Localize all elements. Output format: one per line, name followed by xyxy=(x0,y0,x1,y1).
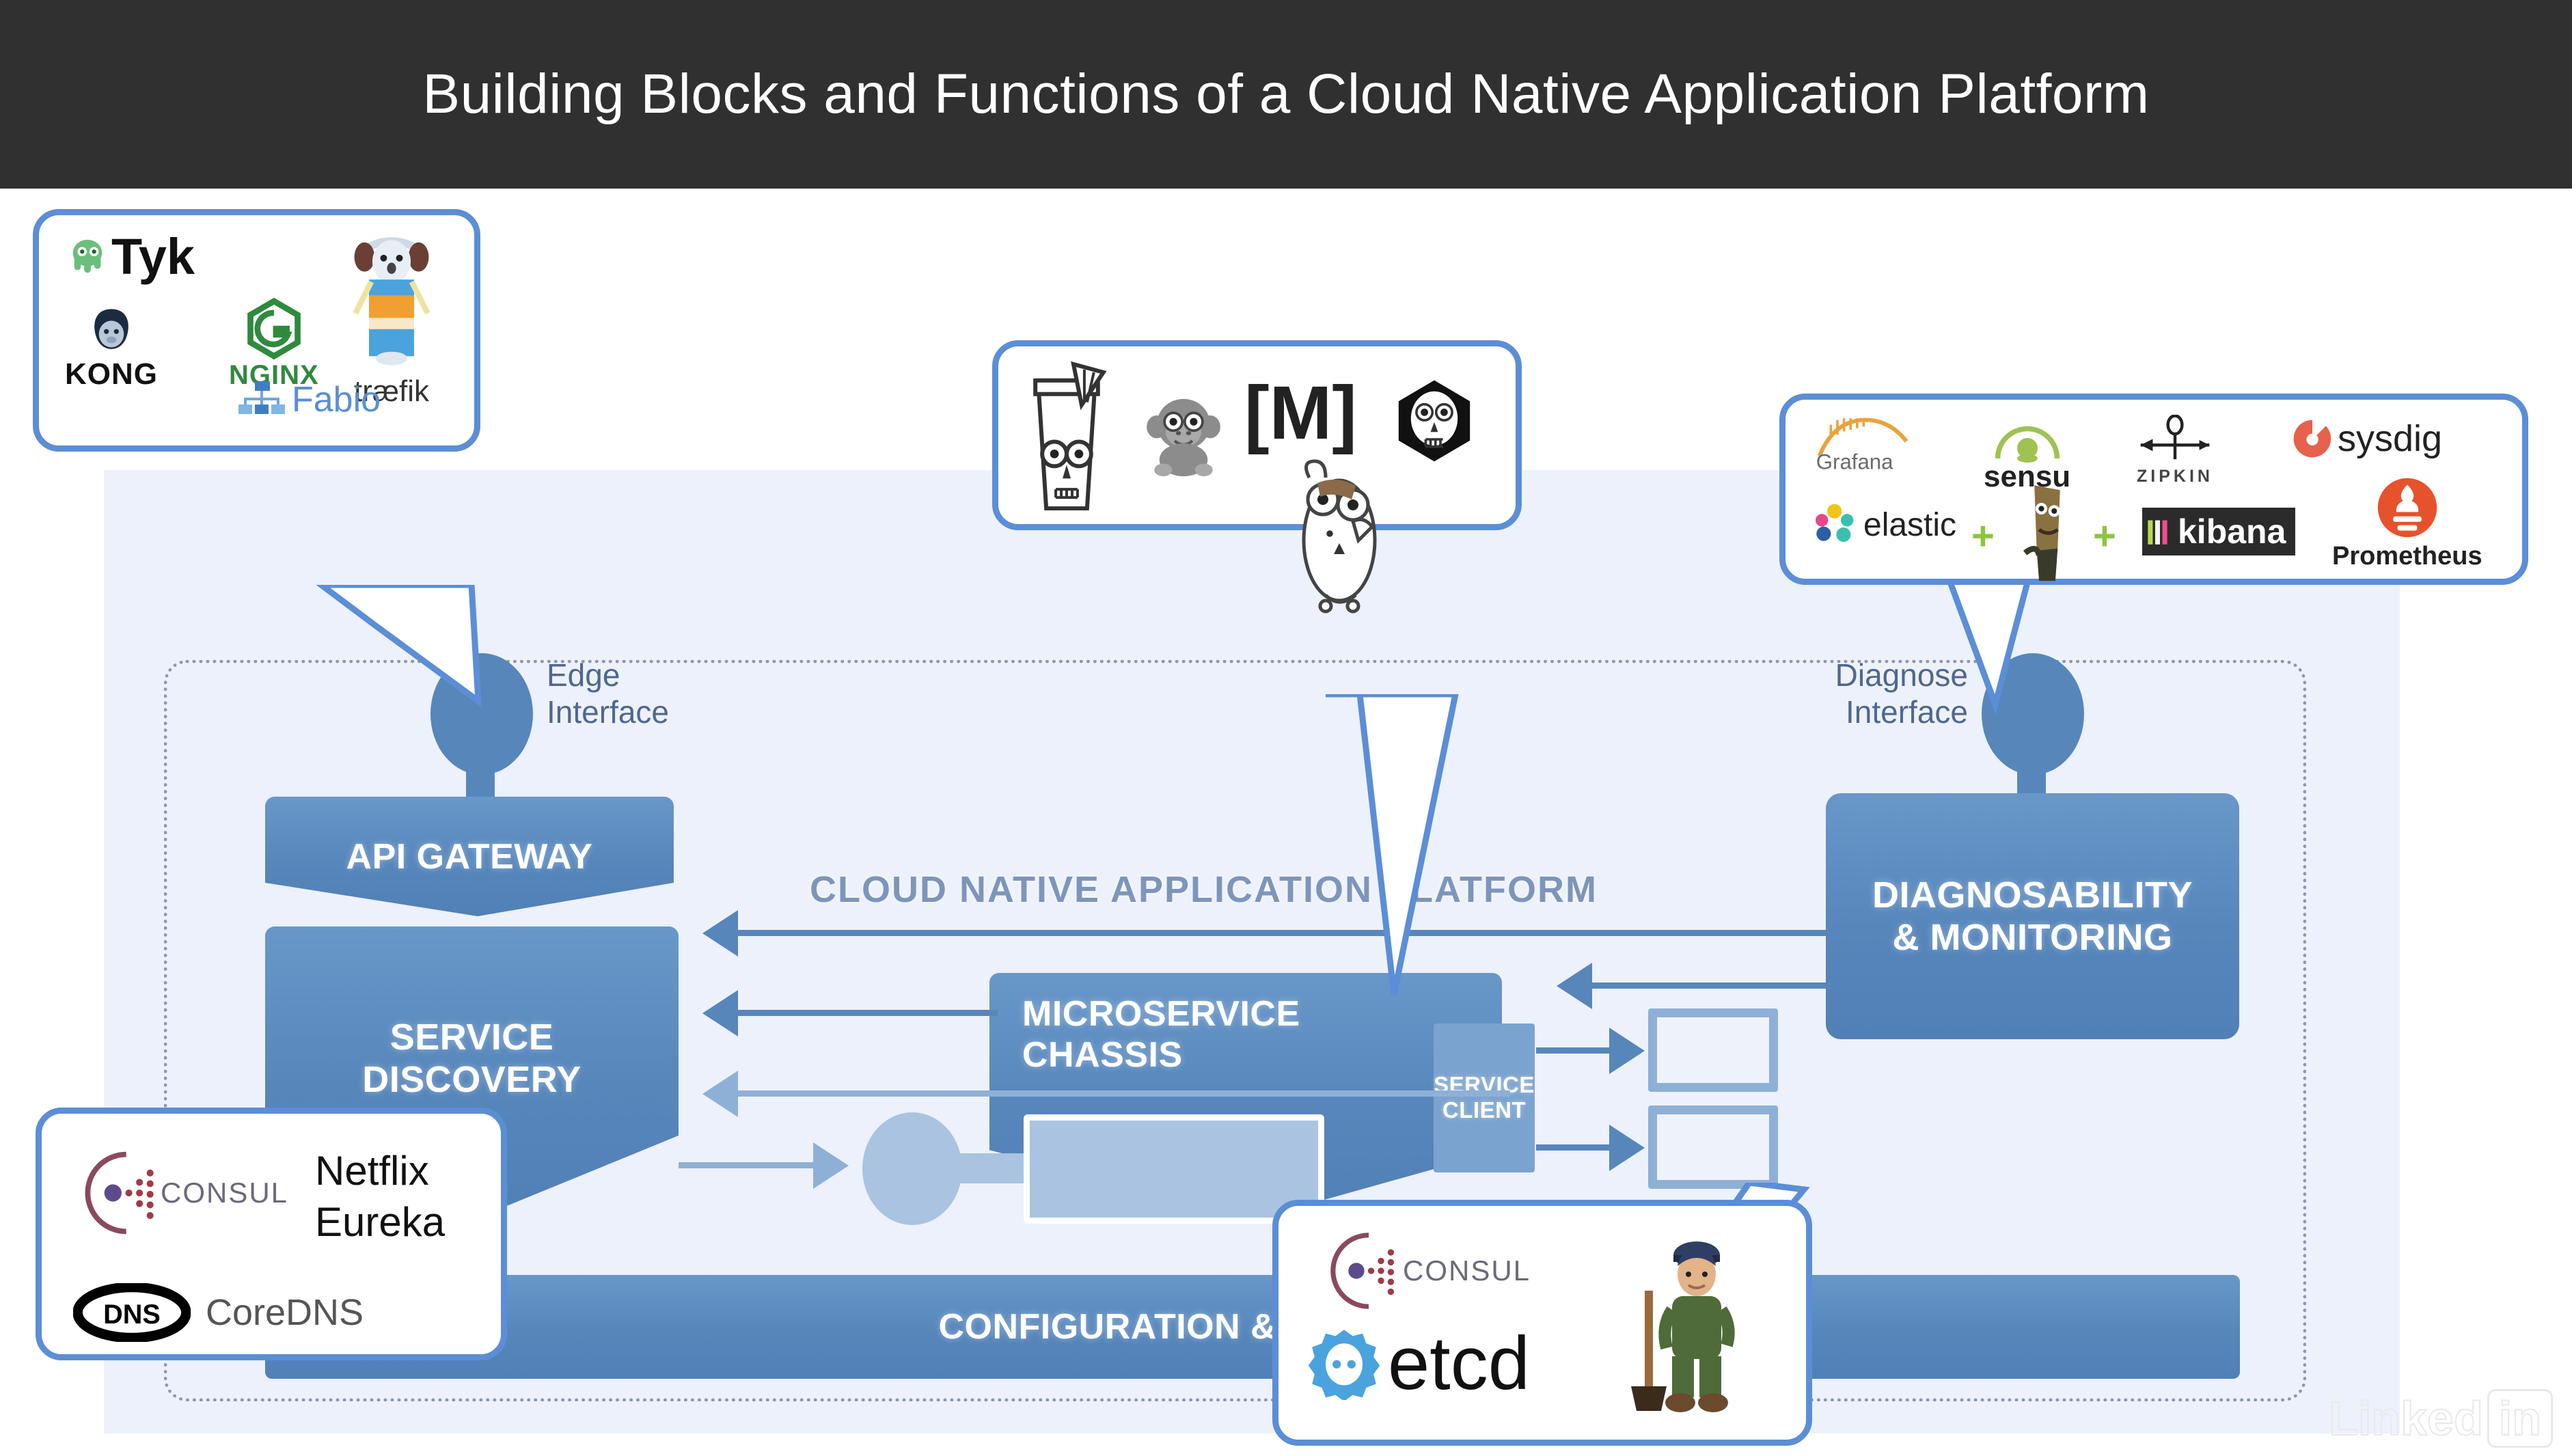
metrics-logo-label: [M] xyxy=(1244,370,1357,456)
gorilla-logo-icon xyxy=(1139,389,1228,478)
tyk-logo-label: Tyk xyxy=(111,228,195,286)
linkedin-watermark: Linked in xyxy=(2329,1389,2553,1448)
fabio-logo-label: Fabio xyxy=(292,379,381,420)
zipkin-logo-cell: ZIPKIN xyxy=(2134,415,2216,486)
kong-logo-label: KONG xyxy=(65,357,158,392)
arrow-head-client-to-box1 xyxy=(1609,1028,1645,1074)
title-bar: Building Blocks and Functions of a Cloud… xyxy=(0,0,2572,189)
sysdig-logo-icon xyxy=(2291,417,2334,460)
coredns-logo-cell: DNS CoreDNS xyxy=(73,1283,364,1342)
consul-logo-label-2: CONSUL xyxy=(1403,1254,1531,1287)
kibana-logo-label: kibana xyxy=(2178,512,2286,551)
arrow-head-client-to-box2 xyxy=(1609,1125,1645,1171)
etcd-logo-label: etcd xyxy=(1388,1330,1530,1397)
arrow-line-discovery-to-chassis xyxy=(679,1162,815,1168)
monitoring-tools-callout: Grafana sensu ZIPKIN xyxy=(1779,394,2528,585)
config-tools-callout: CONSUL etcd xyxy=(1272,1200,1812,1446)
service-discovery-line2: DISCOVERY xyxy=(362,1058,582,1101)
consul-logo-icon-2 xyxy=(1319,1228,1406,1314)
zipkin-logo-icon xyxy=(2134,415,2216,465)
prometheus-logo-label: Prometheus xyxy=(2332,542,2482,571)
edge-interface-label-line1: Edge xyxy=(547,657,669,693)
arrow-line-diag-to-client xyxy=(1592,983,1831,989)
kibana-logo-bars-icon xyxy=(2146,517,2174,547)
diagnosability-monitoring-block[interactable]: DIAGNOSABILITY & MONITORING xyxy=(1826,793,2239,1039)
service-client-box[interactable]: SERVICE CLIENT xyxy=(1434,1024,1535,1172)
netflix-label: Netflix xyxy=(315,1145,445,1196)
api-gateway-callout-tail xyxy=(294,585,526,722)
zookeeper-logo-cell xyxy=(1620,1233,1743,1418)
zipkin-logo-label: ZIPKIN xyxy=(2137,467,2213,486)
arrow-line-chassis-light-to-discovery xyxy=(738,1090,1510,1097)
kong-logo-icon xyxy=(85,304,138,357)
consul-logo-cell-2: CONSUL xyxy=(1319,1228,1531,1314)
prometheus-logo-icon xyxy=(2375,475,2440,540)
service-instance-box-2[interactable] xyxy=(1648,1105,1778,1189)
ribbon-logo-icon xyxy=(1391,378,1477,464)
diagnosability-line2: & MONITORING xyxy=(1893,916,2173,959)
sensu-logo-arch-icon xyxy=(1990,413,2065,463)
nginx-logo-icon xyxy=(243,297,305,360)
plus-icon-2-cell: + xyxy=(2093,513,2116,559)
arrow-line-client-to-box1 xyxy=(1536,1047,1611,1054)
monitoring-callout-tail xyxy=(1859,575,2214,718)
tyk-logo-icon xyxy=(66,236,109,278)
kong-logo-cell: KONG xyxy=(65,304,158,392)
plus-icon-1-cell: + xyxy=(1971,513,1995,559)
tyk-logo-cell: Tyk xyxy=(66,228,195,286)
elastic-logo-icon xyxy=(1813,502,1858,547)
ribbon-logo-cell xyxy=(1391,378,1477,464)
consul-logo-label-1: CONSUL xyxy=(161,1177,288,1209)
service-discovery-line1: SERVICE xyxy=(390,1016,554,1058)
gorilla-logo-cell xyxy=(1139,389,1228,478)
diagnosability-line1: DIAGNOSABILITY xyxy=(1872,874,2193,916)
page-title: Building Blocks and Functions of a Cloud… xyxy=(422,62,2149,126)
netflix-eureka-label: Netflix Eureka xyxy=(315,1145,445,1248)
eureka-label: Eureka xyxy=(315,1196,445,1248)
hystrix-logo-cell xyxy=(1019,356,1114,517)
discovery-tools-callout: CONSUL Netflix Eureka DNS CoreDNS xyxy=(36,1108,507,1360)
service-instance-box-1[interactable] xyxy=(1648,1008,1778,1092)
sensu-logo-cell: sensu xyxy=(1984,413,2070,494)
linkedin-watermark-badge: in xyxy=(2487,1389,2553,1448)
hystrix-logo-icon xyxy=(1019,356,1114,517)
consul-logo-cell-1: CONSUL xyxy=(73,1146,288,1239)
arrow-line-client-to-box2 xyxy=(1536,1144,1611,1151)
fabio-logo-icon xyxy=(237,380,286,420)
arrow-line-chassis-to-discovery xyxy=(738,1010,998,1016)
edge-interface-label: Edge Interface xyxy=(547,657,669,731)
chassis-callout-tail xyxy=(1285,694,1558,1015)
svg-text:DNS: DNS xyxy=(103,1300,161,1330)
nginx-logo-cell: NGINX xyxy=(229,297,319,391)
go-gopher-logo-icon xyxy=(1285,458,1394,622)
linkedin-watermark-text: Linked xyxy=(2329,1391,2483,1446)
kibana-logo-cell: kibana xyxy=(2142,508,2295,555)
elastic-logo-label: elastic xyxy=(1863,506,1956,544)
edge-interface-label-line2: Interface xyxy=(547,693,669,730)
dns-logo-icon: DNS xyxy=(73,1283,191,1342)
etcd-logo-icon xyxy=(1307,1326,1381,1400)
traefik-logo-icon xyxy=(346,228,437,374)
api-gateway-tools-callout: Tyk KONG NGINX xyxy=(33,209,480,452)
microservice-chassis-line2: CHASSIS xyxy=(1022,1034,1183,1075)
chassis-inner-ellipse xyxy=(862,1112,962,1225)
microservice-chassis-line1: MICROSERVICE xyxy=(1022,993,1300,1034)
elastic-logo-cell: elastic xyxy=(1813,502,1956,547)
fabio-logo-cell: Fabio xyxy=(237,379,381,420)
arrow-head-chassis-to-discovery xyxy=(702,990,738,1036)
sysdig-logo-label: sysdig xyxy=(2338,417,2442,460)
arrow-head-chassis-light-to-discovery xyxy=(702,1071,738,1117)
grafana-logo-icon: Grafana xyxy=(1813,413,1919,471)
diagram-canvas: CLOUD NATIVE APPLICATION PLATFORM Edge I… xyxy=(0,189,2572,1456)
coredns-logo-label: CoreDNS xyxy=(206,1291,364,1334)
logstash-logo-icon xyxy=(2018,483,2077,586)
service-client-line2: CLIENT xyxy=(1442,1098,1526,1123)
grafana-logo-cell: Grafana xyxy=(1813,413,1919,471)
svg-text:Grafana: Grafana xyxy=(1816,450,1893,471)
sysdig-logo-cell: sysdig xyxy=(2291,417,2442,460)
chassis-tools-callout: [M] xyxy=(992,340,1522,530)
etcd-logo-cell: etcd xyxy=(1307,1326,1530,1400)
logstash-logo-cell xyxy=(2018,483,2077,586)
plus-icon-2: + xyxy=(2093,513,2116,559)
consul-logo-icon xyxy=(73,1146,166,1239)
arrow-head-diag-to-discovery xyxy=(702,910,738,957)
plus-icon-1: + xyxy=(1971,513,1995,559)
arrow-head-discovery-to-chassis xyxy=(813,1142,849,1189)
metrics-logo-cell: [M] xyxy=(1244,370,1357,456)
prometheus-logo-cell: Prometheus xyxy=(2332,475,2482,571)
arrow-head-diag-to-client xyxy=(1557,963,1592,1009)
zookeeper-logo-icon xyxy=(1620,1233,1743,1418)
configuration-coordination-block[interactable]: CONFIGURATION & COORDINATION xyxy=(265,1275,2240,1379)
